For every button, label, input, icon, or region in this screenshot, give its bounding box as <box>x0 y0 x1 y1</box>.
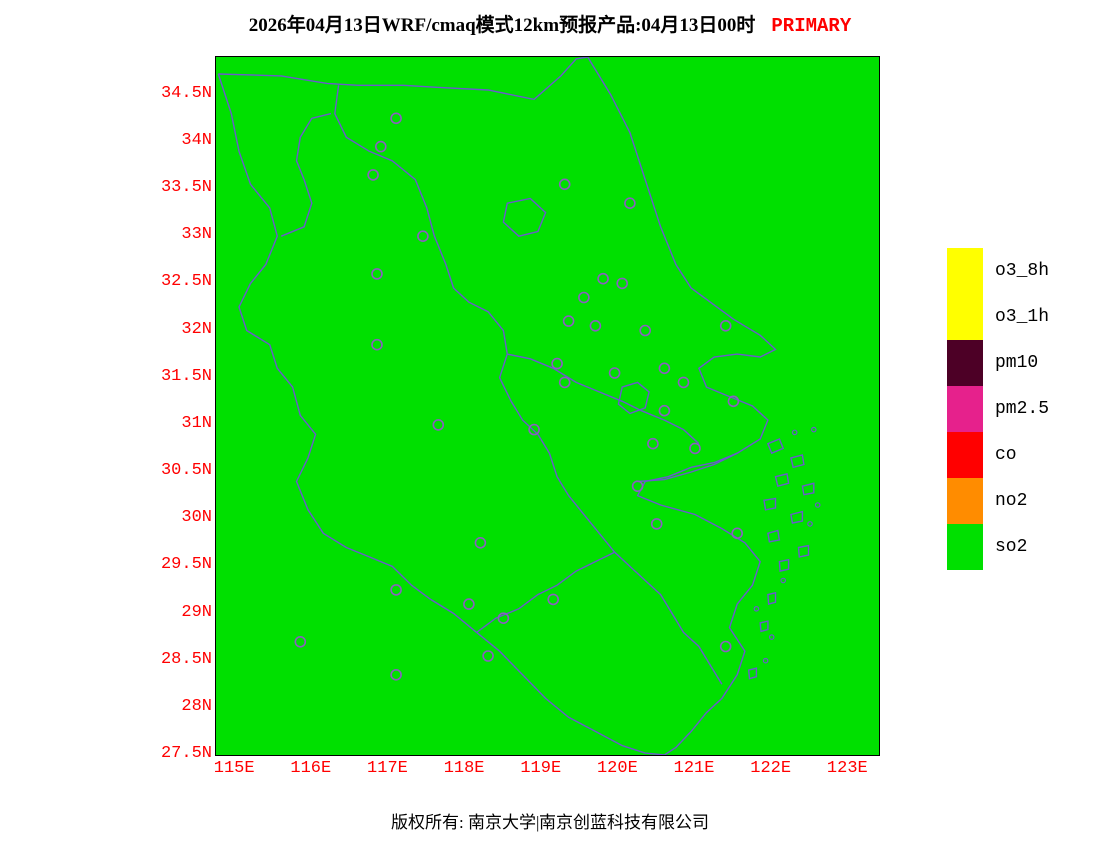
station-marker[interactable] <box>690 443 700 453</box>
station-marker[interactable] <box>648 439 658 449</box>
legend-item-label: no2 <box>995 491 1027 511</box>
station-marker[interactable] <box>579 293 589 303</box>
lon-tick-label: 118E <box>434 759 494 778</box>
lat-tick-label: 29N <box>181 603 212 622</box>
lon-tick-label: 116E <box>281 759 341 778</box>
legend-color-swatch <box>947 432 983 478</box>
island-speck-2 <box>816 503 820 507</box>
station-marker[interactable] <box>548 594 558 604</box>
station-marker[interactable] <box>610 368 620 378</box>
lat-tick-label: 28.5N <box>161 650 212 669</box>
island-outline-1 <box>791 455 804 467</box>
legend-color-swatch <box>947 478 983 524</box>
station-marker[interactable] <box>721 642 731 652</box>
legend-item-label: pm2.5 <box>995 399 1049 419</box>
island-outline-0 <box>768 439 783 453</box>
island-speck-7 <box>763 659 767 663</box>
station-marker[interactable] <box>372 269 382 279</box>
lat-tick-label: 32N <box>181 320 212 339</box>
station-marker[interactable] <box>475 538 485 548</box>
station-marker[interactable] <box>659 406 669 416</box>
station-marker[interactable] <box>640 326 650 336</box>
station-marker[interactable] <box>721 321 731 331</box>
lon-tick-label: 117E <box>357 759 417 778</box>
island-speck-3 <box>781 578 785 582</box>
station-marker[interactable] <box>590 321 600 331</box>
footer-text-right: 南京创蓝科技有限公司 <box>539 813 709 832</box>
island-outline-6 <box>768 531 780 542</box>
island-speck-1 <box>793 430 797 434</box>
station-marker[interactable] <box>617 278 627 288</box>
legend-item-no2[interactable]: no2 <box>947 478 1087 524</box>
legend-color-swatch <box>947 294 983 340</box>
taihu-lake-outline <box>618 382 649 413</box>
station-marker[interactable] <box>679 377 689 387</box>
station-marker[interactable] <box>598 274 608 284</box>
lat-tick-label: 31.5N <box>161 367 212 386</box>
station-marker[interactable] <box>391 585 401 595</box>
island-outline-9 <box>768 593 776 604</box>
lat-tick-label: 28N <box>181 697 212 716</box>
legend-item-o3-1h[interactable]: o3_1h <box>947 294 1087 340</box>
legend-item-pm2-5[interactable]: pm2.5 <box>947 386 1087 432</box>
page-title: 2026年04月13日WRF/cmaq模式12km预报产品:04月13日00时 <box>249 15 756 36</box>
legend-item-so2[interactable]: so2 <box>947 524 1087 570</box>
lat-tick-label: 34.5N <box>161 84 212 103</box>
station-marker[interactable] <box>564 316 574 326</box>
island-speck-0 <box>812 427 816 431</box>
lat-tick-label: 32.5N <box>161 272 212 291</box>
legend-color-swatch <box>947 340 983 386</box>
map-vector-layer <box>216 57 879 755</box>
station-marker[interactable] <box>391 670 401 680</box>
station-marker[interactable] <box>529 425 539 435</box>
legend-item-pm10[interactable]: pm10 <box>947 340 1087 386</box>
coastline-path <box>218 57 775 755</box>
latitude-axis: 34.5N34N33.5N33N32.5N32N31.5N31N30.5N30N… <box>120 56 212 756</box>
station-marker[interactable] <box>732 528 742 538</box>
island-outline-11 <box>749 668 757 678</box>
island-speck-5 <box>754 607 758 611</box>
legend-item-label: co <box>995 445 1017 465</box>
island-outline-7 <box>799 546 809 557</box>
title-primary-badge: PRIMARY <box>771 15 851 37</box>
lon-tick-label: 123E <box>817 759 877 778</box>
lon-tick-label: 120E <box>587 759 647 778</box>
west-province-border <box>218 74 664 755</box>
station-marker[interactable] <box>391 113 401 123</box>
station-marker[interactable] <box>652 519 662 529</box>
lat-tick-label: 29.5N <box>161 555 212 574</box>
station-marker[interactable] <box>418 231 428 241</box>
station-marker[interactable] <box>633 481 643 491</box>
longitude-axis: 115E116E117E118E119E120E121E122E123E <box>215 757 880 787</box>
hongze-lake-outline <box>503 199 545 237</box>
lat-tick-label: 30.5N <box>161 461 212 480</box>
station-marker[interactable] <box>625 198 635 208</box>
station-marker[interactable] <box>464 599 474 609</box>
island-outline-8 <box>779 560 788 571</box>
legend-item-o3-8h[interactable]: o3_8h <box>947 248 1087 294</box>
station-marker[interactable] <box>376 142 386 152</box>
zhejiang-south-border <box>477 552 615 632</box>
station-marker[interactable] <box>372 340 382 350</box>
legend-item-label: o3_1h <box>995 307 1049 327</box>
station-marker[interactable] <box>295 637 305 647</box>
jiangsu-zhejiang-border <box>507 354 699 444</box>
lon-tick-label: 115E <box>204 759 264 778</box>
island-outline-3 <box>802 483 813 494</box>
station-marker[interactable] <box>552 359 562 369</box>
lat-tick-label: 33N <box>181 225 212 244</box>
legend-item-co[interactable]: co <box>947 432 1087 478</box>
north-inner-border <box>281 114 331 237</box>
island-speck-6 <box>770 635 774 639</box>
chart-title-bar: 2026年04月13日WRF/cmaq模式12km预报产品:04月13日00时P… <box>0 10 1100 37</box>
island-outline-4 <box>764 498 776 509</box>
copyright-footer: 版权所有: 南京大学|南京创蓝科技有限公司 <box>0 808 1100 833</box>
map-plot-area[interactable] <box>215 56 880 756</box>
lon-tick-label: 119E <box>511 759 571 778</box>
island-outline-10 <box>760 621 768 631</box>
legend-color-swatch <box>947 248 983 294</box>
lat-tick-label: 31N <box>181 414 212 433</box>
island-outline-2 <box>776 474 789 486</box>
hangzhou-bay-line <box>638 453 738 481</box>
station-marker[interactable] <box>560 377 570 387</box>
legend-item-label: so2 <box>995 537 1027 557</box>
pollutant-legend: o3_8ho3_1hpm10pm2.5cono2so2 <box>947 248 1087 570</box>
lon-tick-label: 121E <box>664 759 724 778</box>
legend-item-label: pm10 <box>995 353 1038 373</box>
station-marker[interactable] <box>483 651 493 661</box>
lat-tick-label: 34N <box>181 131 212 150</box>
lat-tick-label: 33.5N <box>161 178 212 197</box>
legend-color-swatch <box>947 386 983 432</box>
island-outline-5 <box>791 512 803 523</box>
station-marker[interactable] <box>368 170 378 180</box>
legend-color-swatch <box>947 524 983 570</box>
lat-tick-label: 30N <box>181 508 212 527</box>
legend-item-label: o3_8h <box>995 261 1049 281</box>
station-marker[interactable] <box>433 420 443 430</box>
lon-tick-label: 122E <box>741 759 801 778</box>
zhejiang-inner-border <box>615 552 722 684</box>
island-speck-4 <box>808 522 812 526</box>
station-marker[interactable] <box>659 363 669 373</box>
station-marker[interactable] <box>560 179 570 189</box>
footer-text-left: 版权所有: 南京大学 <box>391 813 536 832</box>
